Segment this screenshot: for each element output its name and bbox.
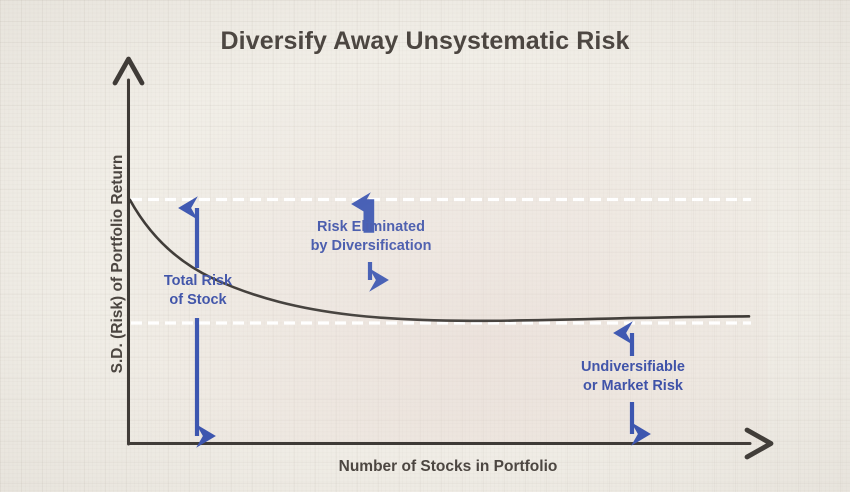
annotation-market-risk-line1: Undiversifiable — [548, 358, 718, 377]
annotation-risk-eliminated: Risk Eliminated by Diversification — [285, 218, 457, 256]
annotation-market-risk-line2: or Market Risk — [548, 377, 718, 396]
annotation-market-risk: Undiversifiable or Market Risk — [548, 358, 718, 396]
chart-canvas: Diversify Away Unsystematic Risk S.D. (R… — [0, 0, 850, 492]
annotation-risk-eliminated-line1: Risk Eliminated — [285, 218, 457, 237]
annotation-total-risk-line2: of Stock — [138, 291, 258, 310]
annotation-total-risk: Total Risk of Stock — [138, 272, 258, 310]
annotation-risk-eliminated-line2: by Diversification — [285, 237, 457, 256]
annotation-total-risk-line1: Total Risk — [138, 272, 258, 291]
